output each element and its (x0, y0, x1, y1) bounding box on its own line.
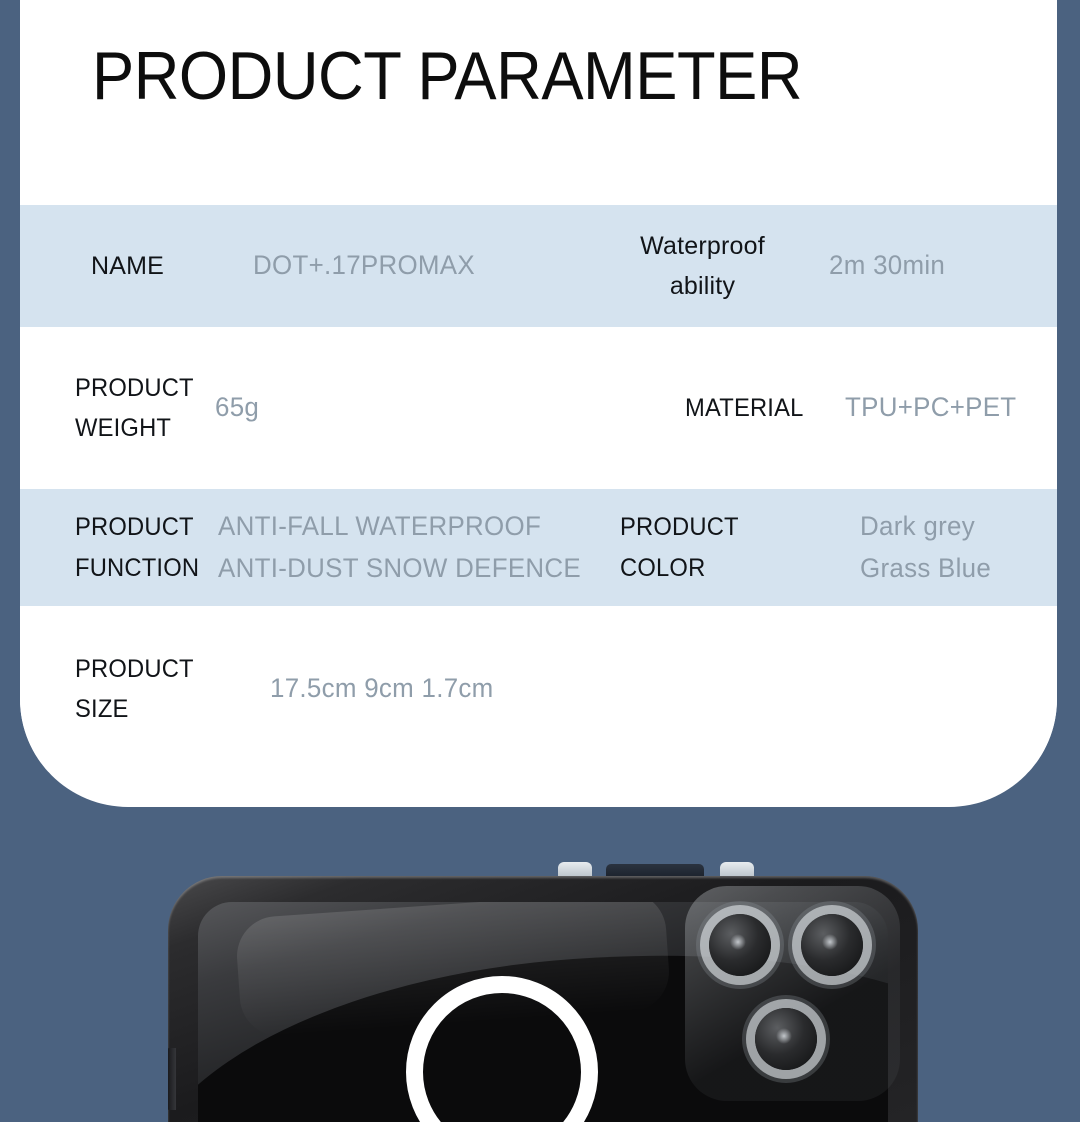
case-shell (168, 876, 918, 1122)
spec-label-waterproof-ability: Waterproof ability (590, 226, 815, 307)
spec-label-material: MATERIAL (595, 388, 810, 429)
spec-value-product-color: Dark grey Grass Blue (785, 506, 1057, 590)
spec-label-name: NAME (20, 246, 235, 287)
camera-island (685, 886, 900, 1101)
spec-label-product-function: PRODUCT FUNCTION (20, 507, 205, 588)
spec-label-text: Waterproof ability (640, 226, 765, 307)
spec-value-waterproof-ability: 2m 30min (815, 245, 1057, 287)
side-button-nub (168, 1048, 176, 1110)
spec-label-text: PRODUCT FUNCTION (75, 507, 199, 588)
spec-value-product-weight: 65g (200, 387, 595, 429)
spec-value-name: DOT+.17PROMAX (235, 245, 590, 287)
spec-label-product-weight: PRODUCT WEIGHT (20, 368, 200, 449)
spec-value-text: DOT+.17PROMAX (253, 245, 475, 287)
table-row: PRODUCT WEIGHT 65g MATERIAL TPU+PC+PET (20, 327, 1057, 489)
spec-value-product-function: ANTI-FALL WATERPROOF ANTI-DUST SNOW DEFE… (205, 506, 605, 590)
product-image-phone-case (168, 862, 918, 1122)
spec-value-text: 2m 30min (829, 245, 945, 287)
spec-label-text: PRODUCT SIZE (75, 649, 241, 730)
spec-value-material: TPU+PC+PET (810, 387, 1057, 429)
spec-value-text: TPU+PC+PET (845, 387, 1016, 429)
spec-value-text: ANTI-FALL WATERPROOF ANTI-DUST SNOW DEFE… (218, 506, 581, 590)
spec-value-product-size: 17.5cm 9cm 1.7cm (250, 668, 670, 710)
spec-value-text: Dark grey Grass Blue (860, 506, 991, 590)
camera-lens-wide-icon (709, 914, 771, 976)
table-row: PRODUCT SIZE 17.5cm 9cm 1.7cm (20, 606, 1057, 772)
camera-lens-ultrawide-icon (801, 914, 863, 976)
spec-label-product-size: PRODUCT SIZE (20, 649, 250, 730)
spec-table: NAME DOT+.17PROMAX Waterproof ability 2m… (20, 205, 1057, 772)
spec-label-product-color: PRODUCT COLOR (605, 507, 785, 588)
spec-label-text: PRODUCT WEIGHT (75, 368, 194, 449)
camera-lens-telephoto-icon (755, 1008, 817, 1070)
table-row: PRODUCT FUNCTION ANTI-FALL WATERPROOF AN… (20, 489, 1057, 606)
spec-value-text: 65g (215, 387, 259, 429)
page-title: PRODUCT PARAMETER (92, 42, 802, 110)
spec-value-text: 17.5cm 9cm 1.7cm (270, 668, 494, 710)
spec-label-text: PRODUCT COLOR (620, 507, 739, 588)
spec-label-text: NAME (91, 246, 164, 287)
spec-label-text: MATERIAL (685, 388, 804, 429)
spec-card: PRODUCT PARAMETER NAME DOT+.17PROMAX Wat… (20, 0, 1057, 807)
table-row: NAME DOT+.17PROMAX Waterproof ability 2m… (20, 205, 1057, 327)
